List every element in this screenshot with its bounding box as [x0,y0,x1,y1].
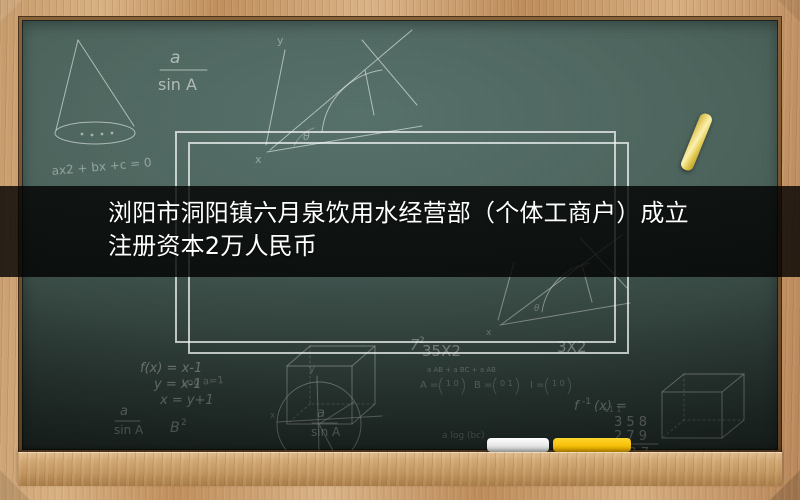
announcement-text: 浏阳市洞阳镇六月泉饮用水经营部（个体工商户）成立 注册资本2万人民币 [108,197,760,263]
chalk-piece-white [487,438,549,452]
chalk-ledge [18,452,782,486]
screenshot-root: a sin A ax2 + bx +c = 0 y x [0,0,800,500]
chalk-piece-yellow [553,438,631,452]
